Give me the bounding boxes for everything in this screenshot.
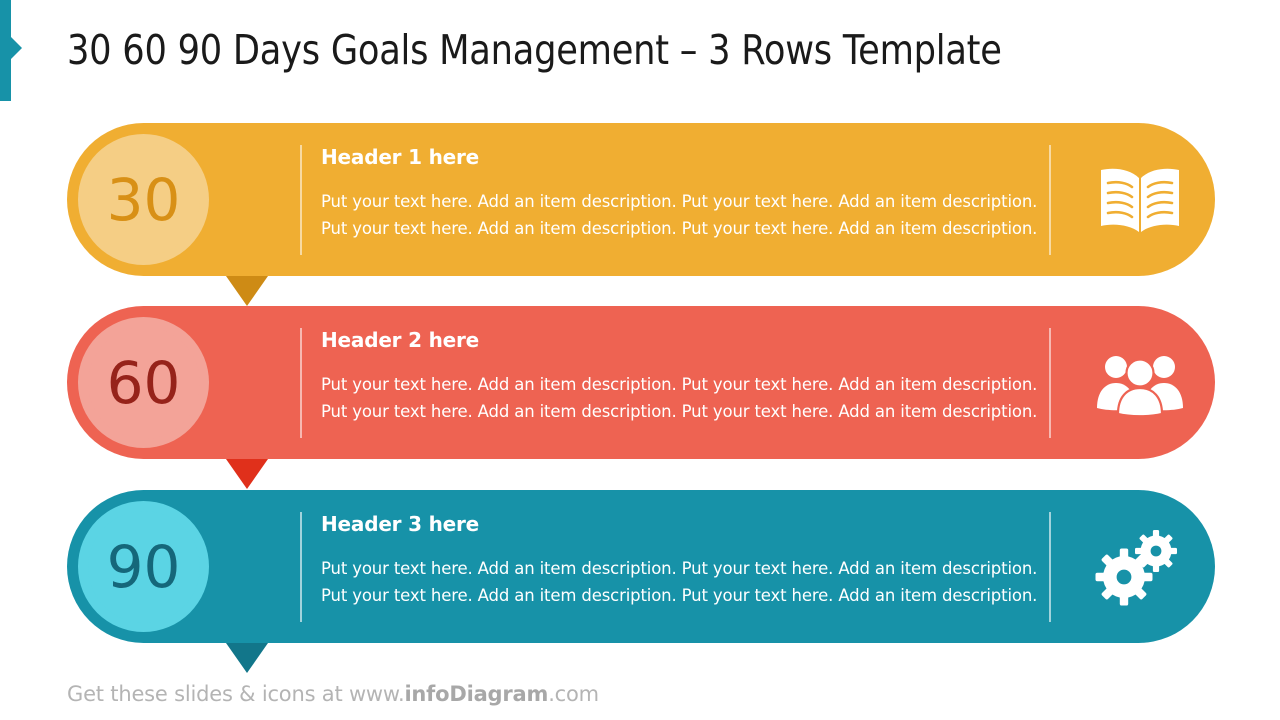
footer-prefix: Get these slides & icons at www. [67, 682, 404, 706]
goal-row-90[interactable]: 90 Header 3 here Put your text here. Add… [67, 490, 1215, 643]
footer-brand: infoDiagram [404, 682, 548, 706]
number-badge-inner: 90 [88, 511, 200, 623]
row-text-block: Header 3 here Put your text here. Add an… [321, 512, 1101, 609]
row-divider-right [1049, 145, 1051, 255]
row-divider-left [300, 512, 302, 622]
number-badge-60: 60 [78, 317, 209, 448]
row-header: Header 3 here [321, 512, 1101, 536]
rows-container: 30 Header 1 here Put your text here. Add… [0, 0, 1280, 720]
slide-canvas: 30 60 90 Days Goals Management – 3 Rows … [0, 0, 1280, 720]
row-body-line-1: Put your text here. Add an item descript… [321, 556, 1101, 583]
number-label: 60 [107, 354, 181, 412]
gears-icon [1087, 523, 1192, 611]
row-connector-arrow-icon [226, 643, 268, 673]
row-body-line-2: Put your text here. Add an item descript… [321, 216, 1101, 243]
number-label: 30 [107, 171, 181, 229]
row-divider-left [300, 328, 302, 438]
number-badge-inner: 60 [88, 327, 200, 439]
row-connector-arrow-icon [226, 276, 268, 306]
row-text-block: Header 2 here Put your text here. Add an… [321, 328, 1101, 425]
row-divider-right [1049, 328, 1051, 438]
footer-credit: Get these slides & icons at www.infoDiag… [67, 682, 599, 706]
number-label: 90 [107, 538, 181, 596]
row-body-line-1: Put your text here. Add an item descript… [321, 189, 1101, 216]
row-header: Header 1 here [321, 145, 1101, 169]
goal-row-60[interactable]: 60 Header 2 here Put your text here. Add… [67, 306, 1215, 459]
footer-suffix: .com [548, 682, 599, 706]
row-connector-arrow-icon [226, 459, 268, 489]
number-badge-90: 90 [78, 501, 209, 632]
open-book-icon [1087, 156, 1192, 244]
row-divider-left [300, 145, 302, 255]
goal-row-30[interactable]: 30 Header 1 here Put your text here. Add… [67, 123, 1215, 276]
row-body-line-1: Put your text here. Add an item descript… [321, 372, 1101, 399]
row-body-line-2: Put your text here. Add an item descript… [321, 399, 1101, 426]
people-group-icon [1087, 339, 1192, 427]
row-body-line-2: Put your text here. Add an item descript… [321, 583, 1101, 610]
row-text-block: Header 1 here Put your text here. Add an… [321, 145, 1101, 242]
number-badge-30: 30 [78, 134, 209, 265]
row-divider-right [1049, 512, 1051, 622]
row-header: Header 2 here [321, 328, 1101, 352]
number-badge-inner: 30 [88, 144, 200, 256]
